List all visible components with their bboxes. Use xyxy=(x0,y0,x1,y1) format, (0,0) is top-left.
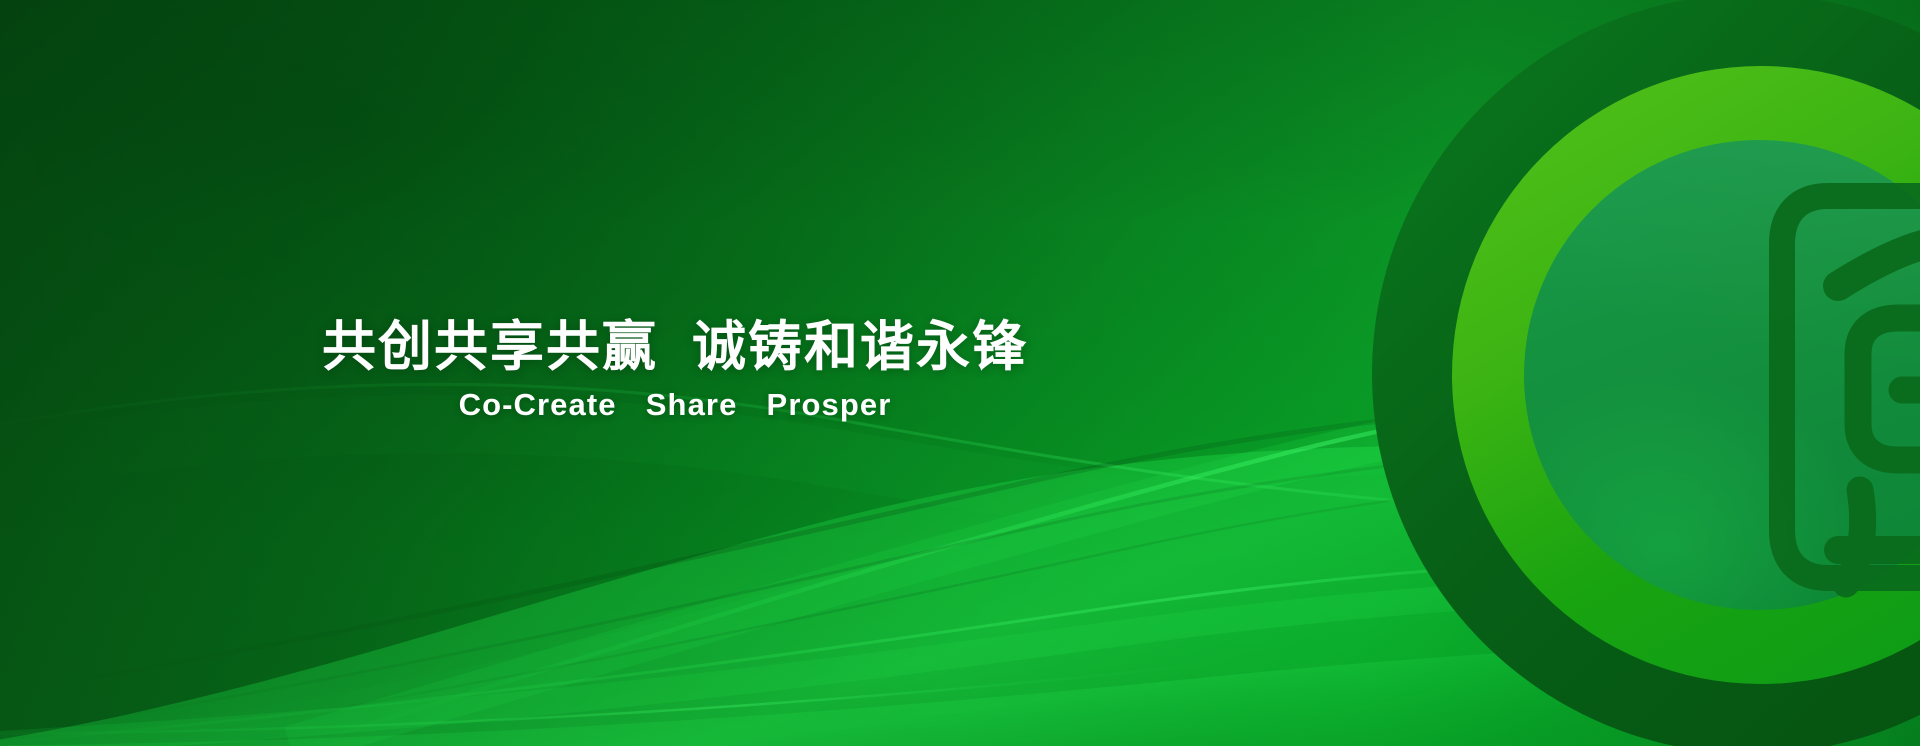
page-title: 共创共享共赢 诚铸和谐永锋 xyxy=(0,318,1350,376)
page-subtitle: Co-Create Share Prosper xyxy=(0,388,1350,422)
stylized-seal-character-watermark xyxy=(1742,178,1920,598)
hero-banner: 共创共享共赢 诚铸和谐永锋 Co-Create Share Prosper xyxy=(0,0,1920,746)
slogan-text-block: 共创共享共赢 诚铸和谐永锋 Co-Create Share Prosper xyxy=(0,318,1350,422)
